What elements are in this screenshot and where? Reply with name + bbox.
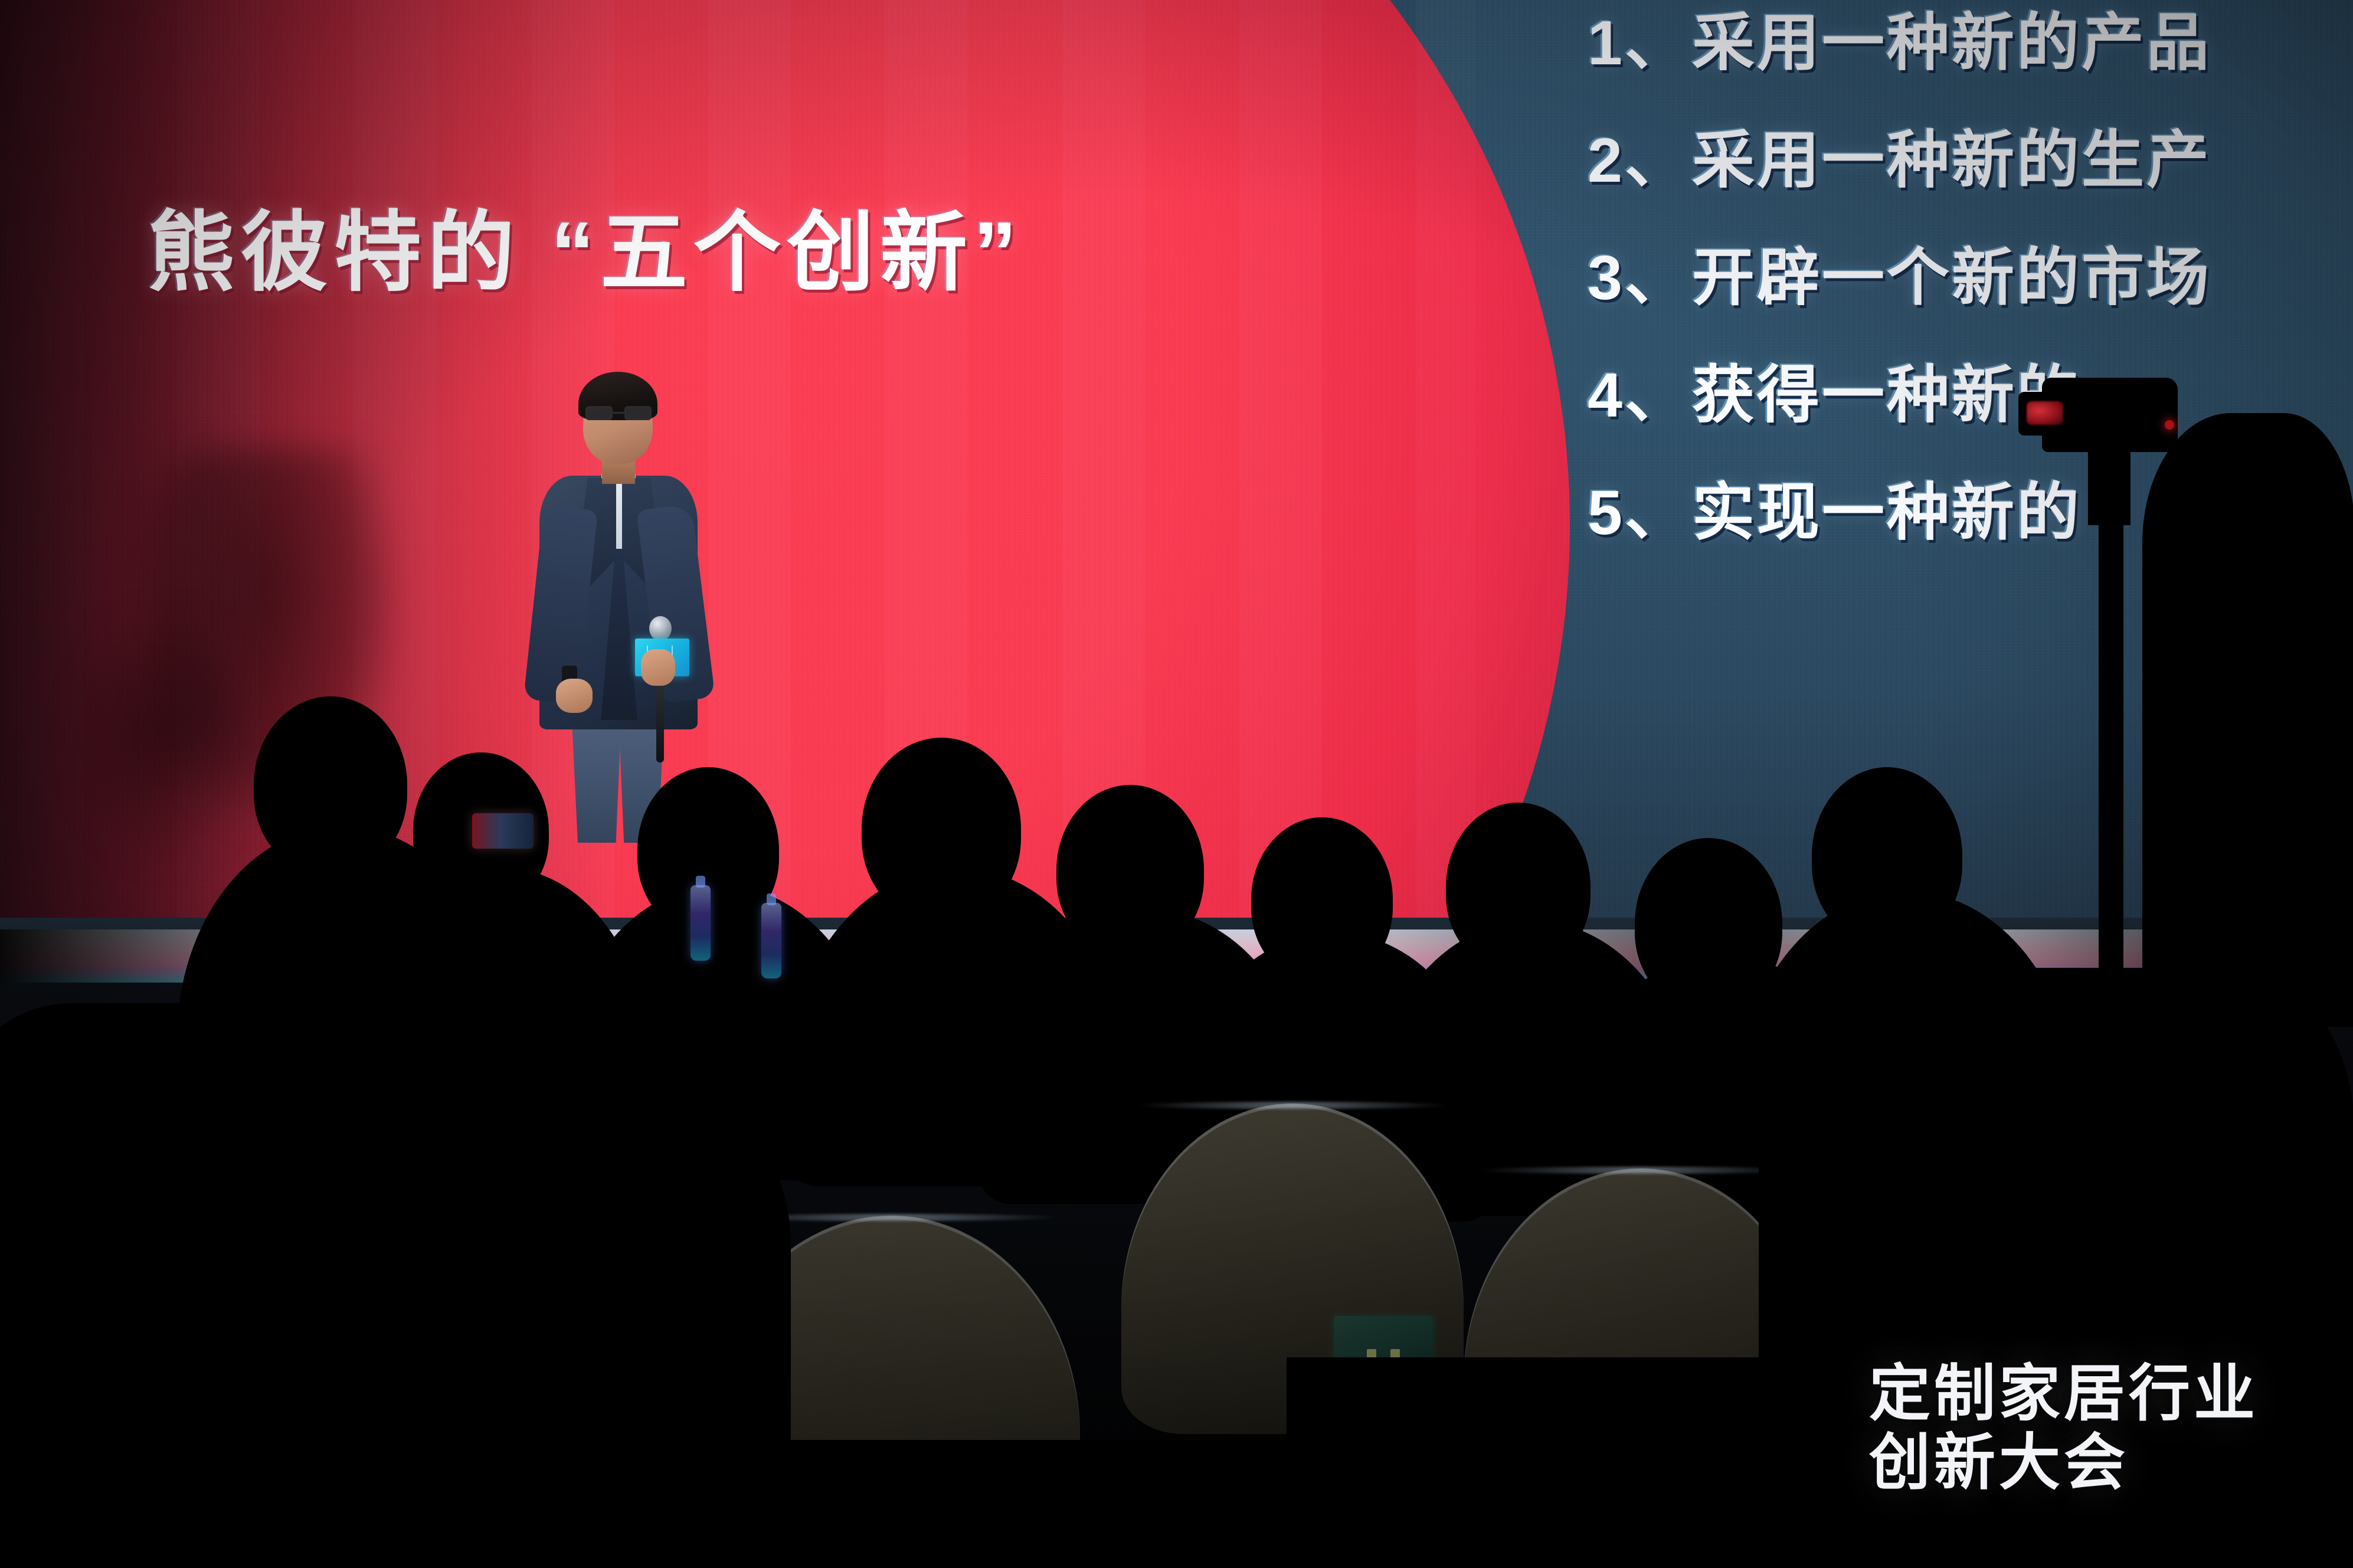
water-bottle (761, 903, 781, 978)
glasses-icon (585, 406, 652, 421)
bullet-number-1: 1、 (1588, 8, 1690, 78)
camera-lens-flare (2027, 401, 2063, 425)
speaker-hand-left (556, 679, 593, 713)
camera-operator-silhouette (2142, 413, 2353, 1027)
watermark-line-2: 创新大会 (1869, 1429, 2259, 1497)
speaker-hand-right (641, 649, 675, 686)
camera-tally-light-icon (2165, 420, 2174, 430)
camera-rig (2018, 378, 2349, 1027)
slide-title: 熊彼特的 “五个创新” (148, 209, 1023, 297)
bullet-number-4: 4、 (1588, 361, 1690, 430)
bullet-number-3: 3、 (1588, 243, 1690, 313)
watermark-line-1: 定制家居行业 (1869, 1360, 2259, 1428)
audience-phone (472, 813, 534, 849)
event-watermark: 定制家居行业 创新大会 (1869, 1360, 2259, 1497)
microphone-capsule (649, 616, 672, 641)
conference-photo: 熊彼特的 “五个创新” 1、采用一种新的产品 2、采用一种新的生产 3、开辟一个… (0, 0, 2353, 1568)
bullet-number-2: 2、 (1588, 126, 1690, 195)
slide-bullet-3: 3、开辟一个新的市场 (1588, 247, 2353, 309)
slide-bullet-2: 2、采用一种新的生产 (1588, 129, 2353, 192)
water-bottle (690, 885, 711, 961)
speaker-figure (519, 372, 714, 838)
slide-bullet-1: 1、采用一种新的产品 (1588, 12, 2353, 74)
bullet-text-2: 采用一种新的生产 (1692, 126, 2211, 195)
tripod-head (2088, 449, 2131, 525)
bullet-text-3: 开辟一个新的市场 (1692, 243, 2211, 313)
bullet-number-5: 5、 (1588, 478, 1690, 548)
bullet-text-1: 采用一种新的产品 (1692, 8, 2211, 78)
tripod-post (2099, 519, 2123, 1039)
